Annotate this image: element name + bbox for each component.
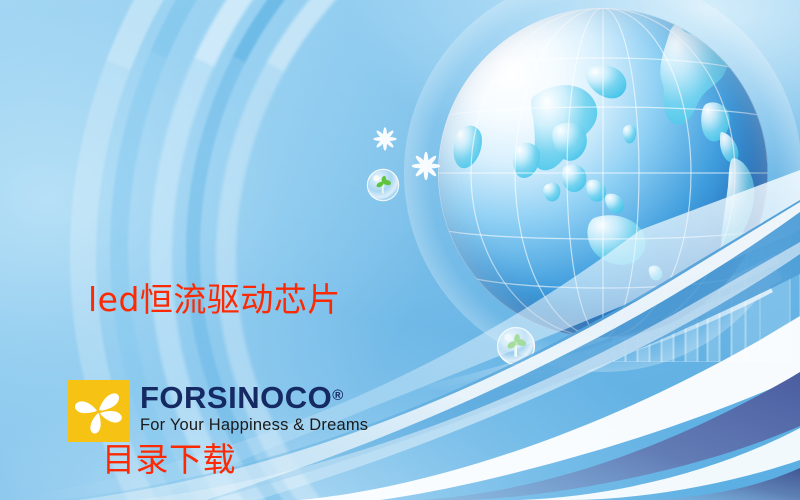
company-logo: FORSINOCO® For Your Happiness & Dreams: [68, 380, 368, 442]
logo-tagline: For Your Happiness & Dreams: [140, 416, 368, 435]
page-title-line-1: led恒流驱动芯片: [88, 273, 341, 326]
page-title: led恒流驱动芯片 目录下载: [88, 166, 341, 500]
registered-trademark-symbol: ®: [332, 387, 343, 404]
logo-text-block: FORSINOCO® For Your Happiness & Dreams: [140, 380, 368, 435]
logo-wordmark-text: FORSINOCO: [140, 380, 332, 415]
banner-image: led恒流驱动芯片 目录下载 FORSINOCO® For Your Happi…: [0, 0, 800, 500]
four-petal-pinwheel-icon: [68, 380, 130, 442]
white-flower-burst-icon: [372, 126, 398, 152]
logo-wordmark: FORSINOCO®: [140, 382, 368, 415]
